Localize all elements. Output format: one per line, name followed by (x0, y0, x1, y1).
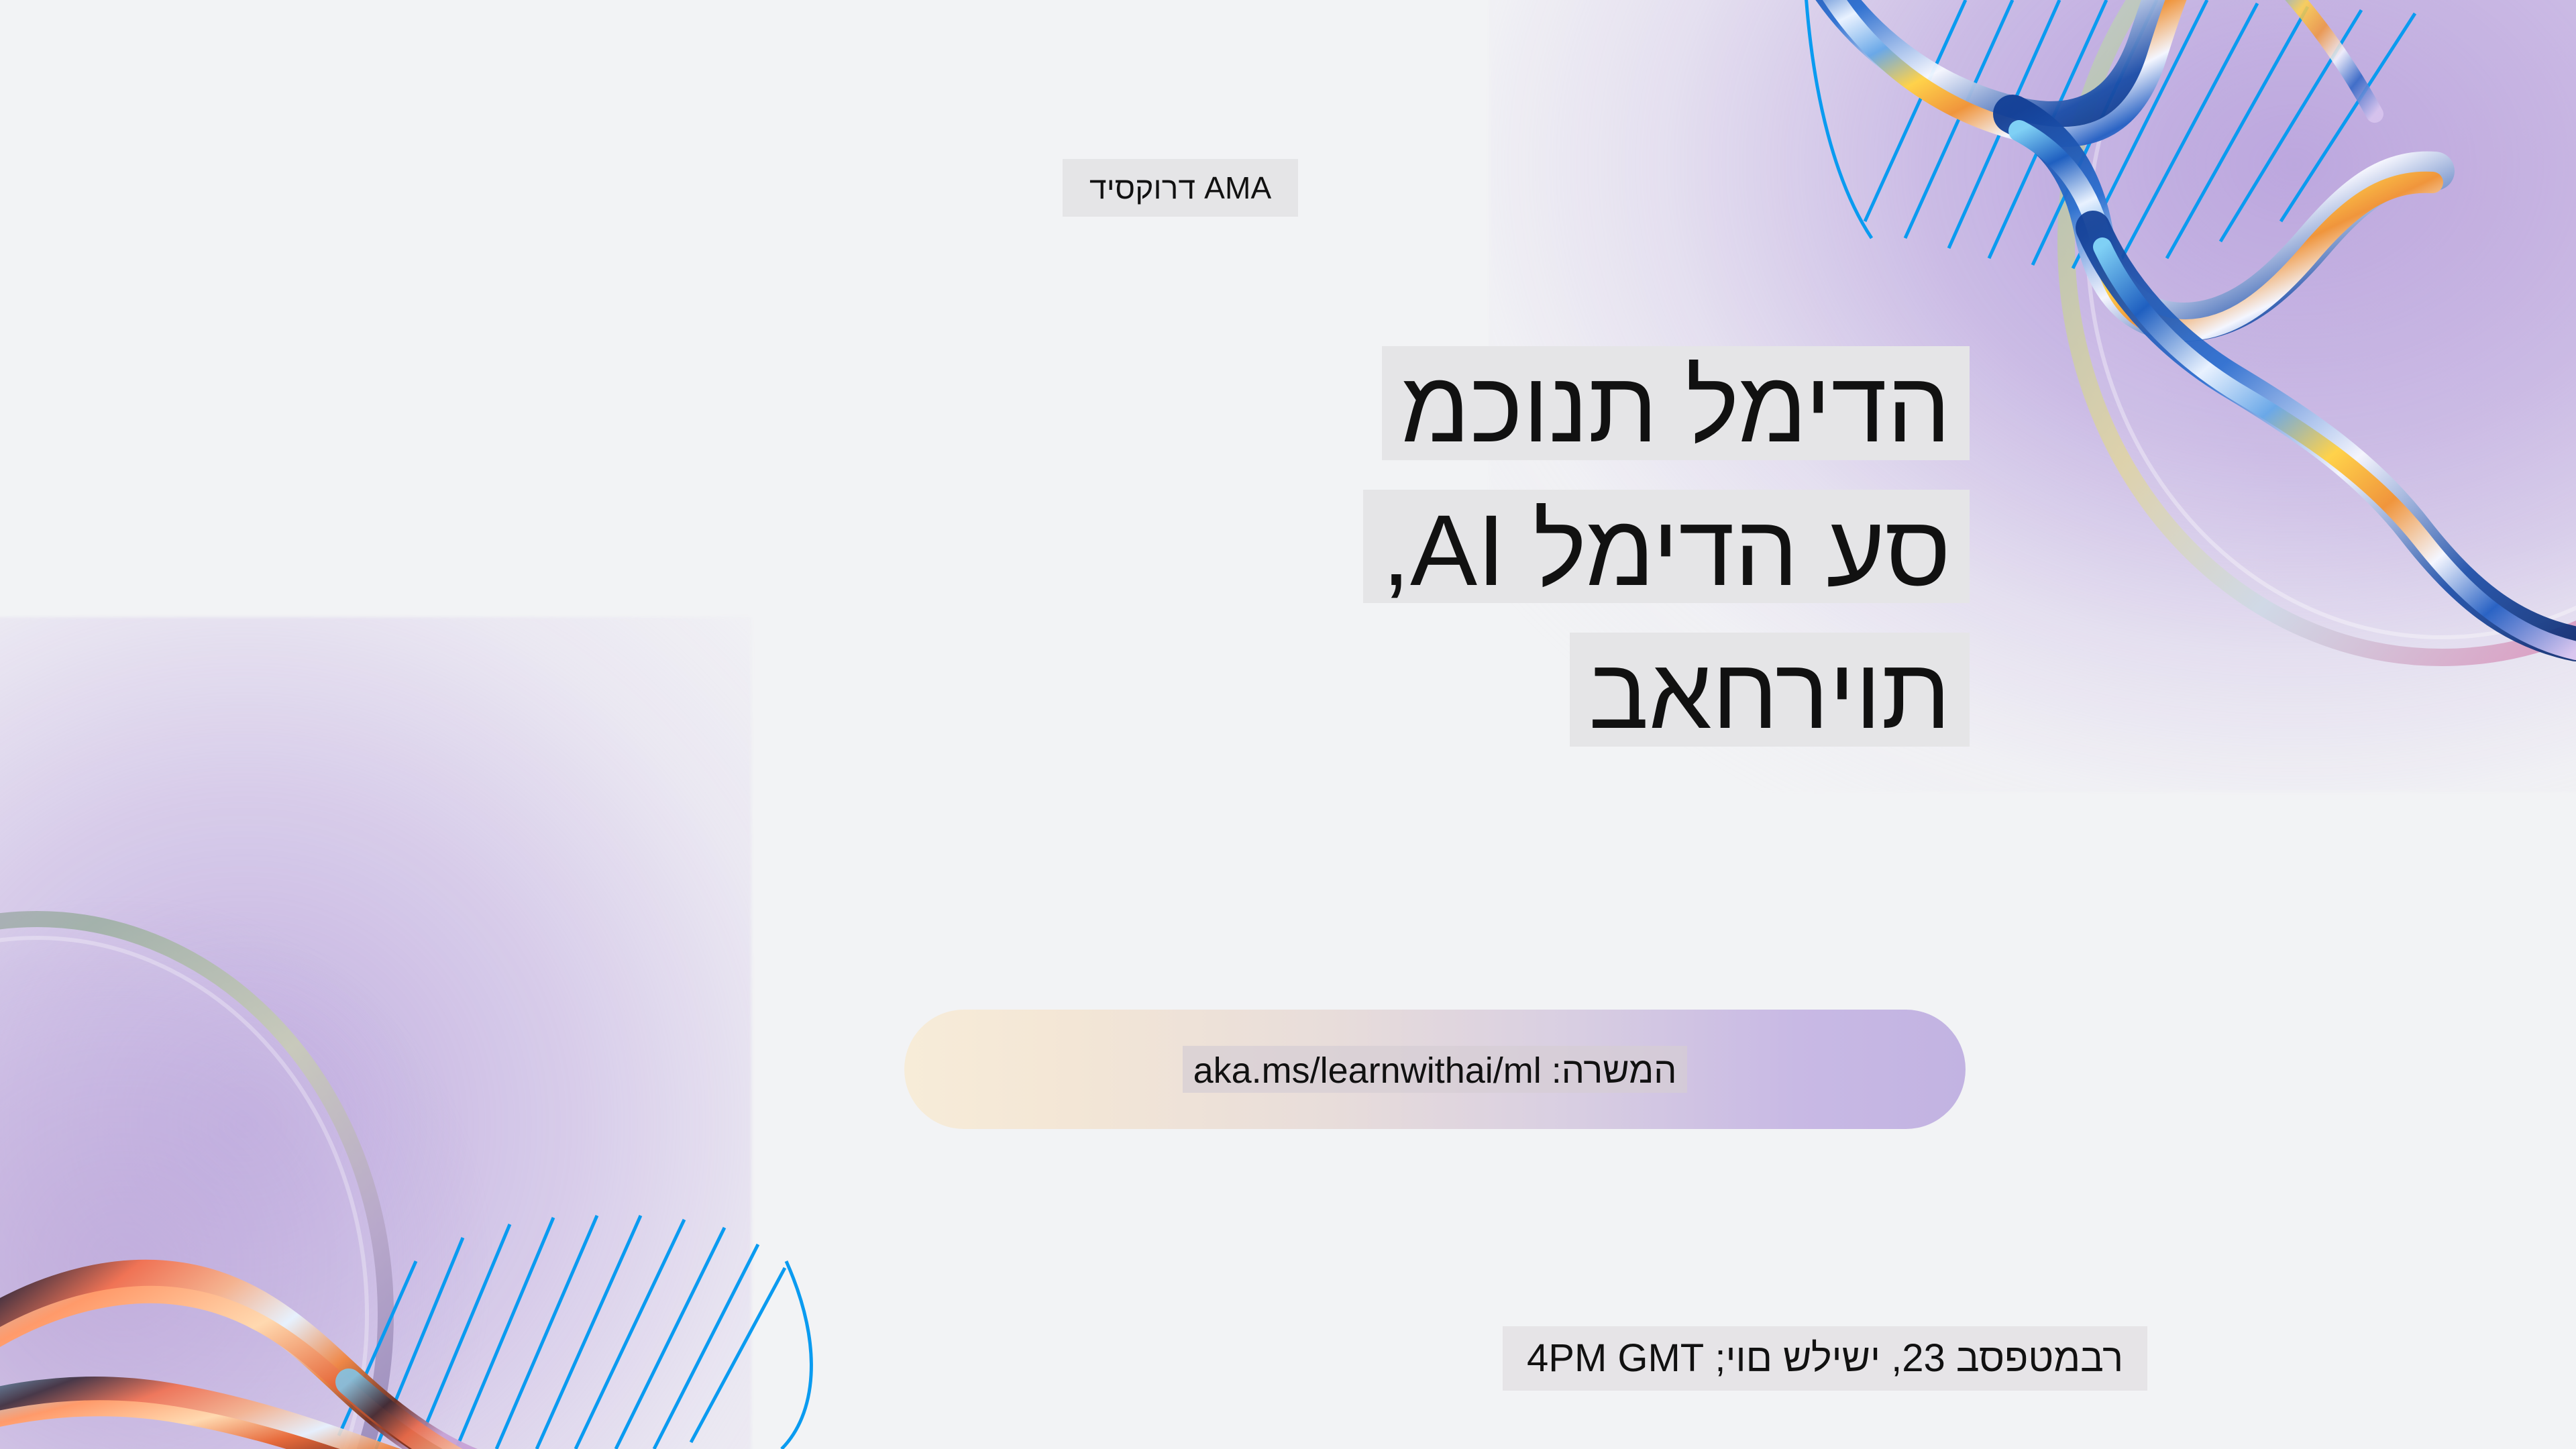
title-row-2: סע הדימל AI, (0, 490, 1970, 604)
title-line-2: סע הדימל AI, (1363, 490, 1970, 604)
title-line-1: הדימל תנוכמ (1382, 346, 1970, 460)
registration-cta-pill[interactable]: המשרה: aka.ms/learnwithai/ml (904, 1010, 1966, 1129)
title-line-3: תוירחאב (1570, 633, 1970, 747)
event-datetime-box: רבמטפסב 23, ישילש םוי; 4PM GMT (1503, 1326, 2147, 1391)
page-title: הדימל תנוכמ סע הדימל AI, תוירחאב (0, 346, 1970, 747)
title-row-3: תוירחאב (0, 633, 1970, 747)
ama-badge-label: דרוקסיד AMA (1089, 172, 1271, 203)
slide-canvas: דרוקסיד AMA הדימל תנוכמ סע הדימל AI, תוי… (0, 0, 2576, 1449)
ama-badge: דרוקסיד AMA (1063, 159, 1298, 217)
event-datetime-label: רבמטפסב 23, ישילש םוי; 4PM GMT (1527, 1339, 2123, 1378)
blue-arc-bottom-right-decoration (782, 1261, 811, 1449)
registration-cta-label[interactable]: המשרה: aka.ms/learnwithai/ml (1183, 1046, 1688, 1093)
title-row-1: הדימל תנוכמ (0, 346, 1970, 460)
